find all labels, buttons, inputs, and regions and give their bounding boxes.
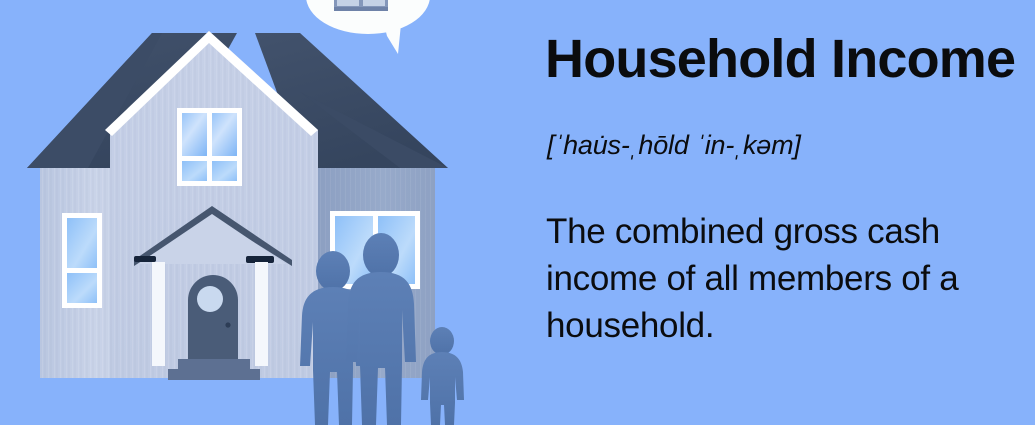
illustration-canvas xyxy=(0,0,520,425)
house-with-family-illustration xyxy=(0,0,520,425)
front-door[interactable] xyxy=(188,275,238,361)
window-gable xyxy=(177,108,242,186)
porch-steps xyxy=(168,359,260,380)
page-title: Household Income xyxy=(545,30,1015,89)
definition-text: The combined gross cash income of all me… xyxy=(546,208,1016,349)
cash-bills-icon xyxy=(334,0,388,11)
definition-card: Household Income [ˈhau̇s-ˌhōld ˈin-ˌkəm]… xyxy=(0,0,1035,425)
pronunciation: [ˈhau̇s-ˌhōld ˈin-ˌkəm] xyxy=(547,130,801,161)
window-left-wing xyxy=(62,213,102,308)
definition-text-panel: Household Income [ˈhau̇s-ˌhōld ˈin-ˌkəm]… xyxy=(545,0,1035,425)
door-window-icon xyxy=(197,286,223,312)
door-knob-icon xyxy=(225,322,230,327)
